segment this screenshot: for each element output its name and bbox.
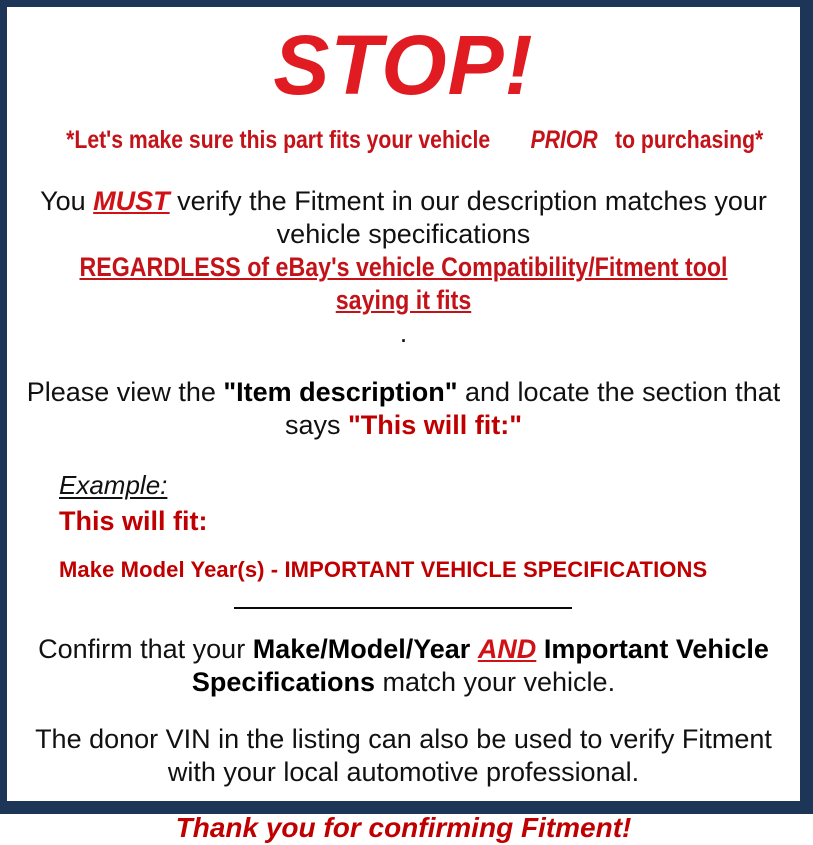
example-label-row: Example:	[59, 470, 788, 500]
subtitle-prefix: *Let's make sure this part fits your veh…	[66, 125, 490, 155]
confirm-tail-text: match your vehicle.	[375, 667, 615, 697]
paragraph-view-description: Please view the "Item description" and l…	[19, 350, 788, 442]
subtitle-suffix: to purchasing*	[615, 125, 763, 155]
subtitle-emphasis-prior: PRIOR	[530, 125, 597, 155]
page-title: STOP!	[19, 7, 788, 109]
paragraph-must-verify: You MUST verify the Fitment in our descr…	[19, 155, 788, 350]
example-fit-heading: This will fit:	[59, 500, 788, 537]
must-tail-text: .	[400, 318, 408, 348]
emphasis-and: AND	[478, 634, 537, 664]
example-block: Example: This will fit: Make Model Year(…	[19, 442, 788, 583]
emphasis-must: MUST	[93, 186, 170, 216]
view-lead-text: Please view the	[27, 377, 224, 407]
emphasis-item-description: "Item description"	[223, 377, 457, 407]
must-lead-text: You	[40, 186, 93, 216]
example-label: Example:	[59, 470, 167, 500]
emphasis-this-will-fit: "This will fit:"	[348, 410, 522, 440]
emphasis-make-model-year: Make/Model/Year	[253, 634, 471, 664]
divider-wrap	[19, 583, 788, 609]
confirm-lead-text: Confirm that your	[38, 634, 253, 664]
must-mid-text: verify the Fitment in our description ma…	[170, 186, 767, 249]
fitment-notice-frame: STOP! *Let's make sure this part fits yo…	[0, 0, 813, 814]
closing-thanks: Thank you for confirming Fitment!	[19, 789, 788, 845]
emphasis-regardless: REGARDLESS of eBay's vehicle Compatibili…	[73, 251, 734, 317]
example-spec-line: Make Model Year(s) - IMPORTANT VEHICLE S…	[59, 537, 788, 583]
paragraph-donor-vin: The donor VIN in the listing can also be…	[19, 699, 788, 789]
subtitle-warning: *Let's make sure this part fits your veh…	[19, 109, 788, 155]
fitment-notice-body: STOP! *Let's make sure this part fits yo…	[7, 7, 800, 801]
paragraph-confirm: Confirm that your Make/Model/Year AND Im…	[19, 609, 788, 699]
